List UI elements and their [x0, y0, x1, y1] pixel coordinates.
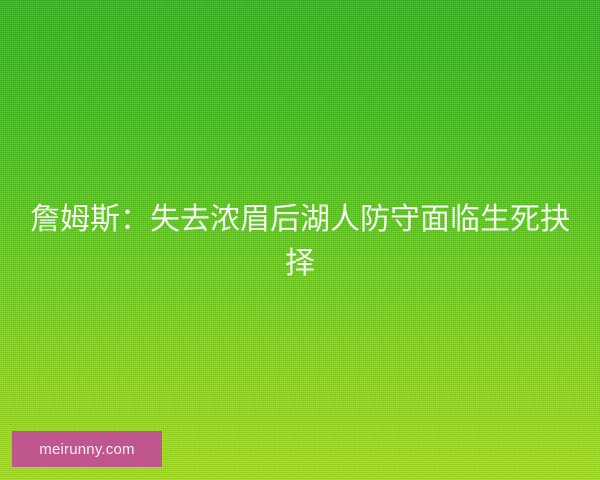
watermark-label: meirunny.com	[39, 442, 134, 457]
site-watermark-badge[interactable]: meirunny.com	[12, 431, 162, 467]
page-title: 詹姆斯：失去浓眉后湖人防守面临生死抉择	[28, 198, 572, 286]
article-banner: 詹姆斯：失去浓眉后湖人防守面临生死抉择 meirunny.com	[0, 0, 600, 480]
